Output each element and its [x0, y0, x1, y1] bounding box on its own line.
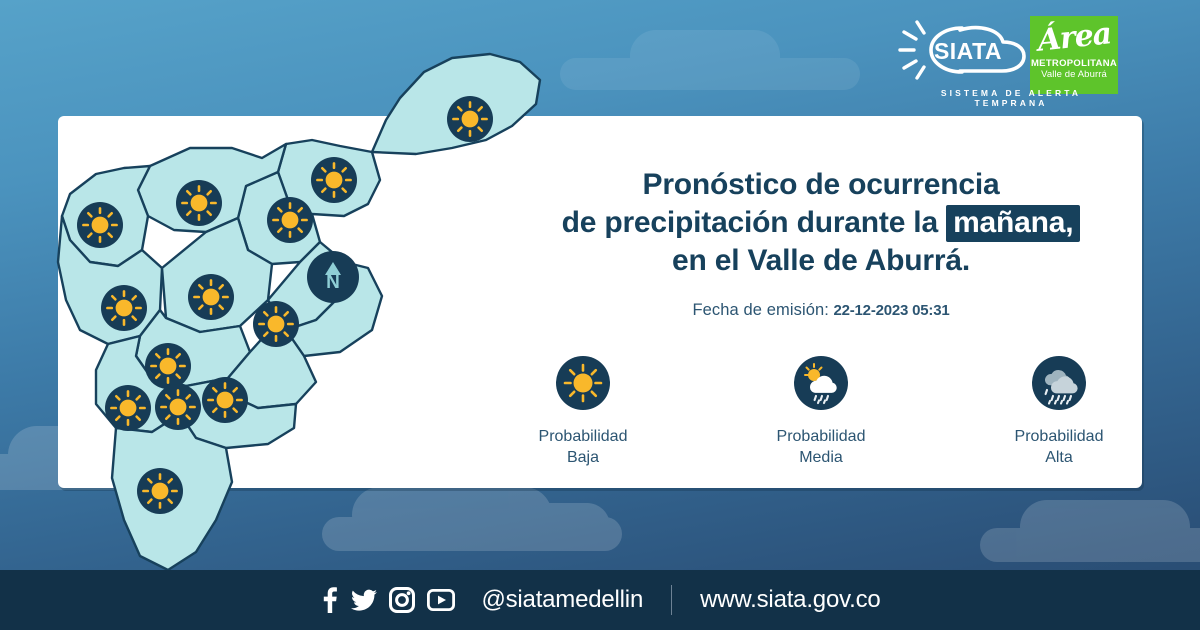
map-marker-girardota: [311, 157, 357, 203]
headline-line-2: de precipitación durante la mañana,: [500, 204, 1142, 242]
legend-label-media: Probabilidad Media: [746, 427, 896, 468]
probability-legend: Probabilidad Baja: [500, 356, 1142, 468]
headline-line-2-text: de precipitación durante la: [562, 206, 947, 239]
valle-de-aburra-map: N: [0, 0, 560, 630]
map-marker-copacabana: [267, 197, 313, 243]
map-marker-medellin-occidente: [101, 285, 147, 331]
sun-rain-cloud-icon: [794, 356, 848, 410]
legend-label-baja: Probabilidad Baja: [508, 427, 658, 468]
social-handle[interactable]: @siatamedellin: [481, 586, 643, 614]
area-line-1: METROPOLITANA: [1030, 58, 1118, 69]
area-line-2: Valle de Aburrá: [1030, 69, 1118, 80]
area-script-text: Área: [1028, 12, 1119, 58]
map-marker-sabaneta: [202, 377, 248, 423]
legend-label-alta: Probabilidad Alta: [984, 427, 1134, 468]
footer-bar: @siatamedellin www.siata.gov.co: [0, 570, 1200, 630]
website-url[interactable]: www.siata.gov.co: [700, 586, 880, 614]
instagram-icon[interactable]: [389, 587, 415, 613]
siata-wordmark: SIATA: [934, 38, 1002, 64]
legend-item-media: Probabilidad Media: [746, 356, 896, 468]
emission-date: Fecha de emisión: 22-12-2023 05:31: [500, 301, 1142, 320]
infographic-root: SIATA Área METROPOLITANA Valle de Aburrá…: [0, 0, 1200, 630]
map-marker-san-pedro: [176, 180, 222, 226]
social-icons: [319, 587, 455, 613]
sun-icon: [556, 356, 610, 410]
headline-line-1: Pronóstico de ocurrencia: [500, 166, 1142, 204]
map-marker-bello: [188, 274, 234, 320]
emission-date-value: 22-12-2023 05:31: [833, 302, 949, 319]
compass-label: N: [326, 272, 340, 293]
headline-highlight: mañana,: [946, 205, 1080, 242]
background-cloud-right: [980, 500, 1200, 562]
brand-tagline: SISTEMA DE ALERTA TEMPRANA: [904, 88, 1118, 108]
map-marker-caldas: [155, 384, 201, 430]
legend-item-alta: Probabilidad Alta: [984, 356, 1134, 468]
facebook-icon[interactable]: [319, 587, 339, 613]
compass-north-icon: N: [307, 251, 359, 303]
twitter-icon[interactable]: [351, 587, 377, 613]
area-metropolitana-logo: Área METROPOLITANA Valle de Aburrá: [1030, 16, 1118, 94]
rain-cloud-icon: [1032, 356, 1086, 410]
map-marker-medellin-centro: [253, 301, 299, 347]
legend-item-baja: Probabilidad Baja: [508, 356, 658, 468]
footer-divider: [671, 585, 672, 615]
map-marker-barbosa: [447, 96, 493, 142]
headline-line-3: en el Valle de Aburrá.: [500, 242, 1142, 280]
emission-date-label: Fecha de emisión:: [692, 301, 829, 319]
map-marker-la-estrella: [105, 385, 151, 431]
page-title: Pronóstico de ocurrencia de precipitació…: [500, 116, 1142, 279]
map-marker-itagui: [145, 343, 191, 389]
siata-logo-icon: SIATA: [898, 18, 1028, 82]
forecast-panel: Pronóstico de ocurrencia de precipitació…: [500, 116, 1142, 488]
map-marker-bello-norte: [77, 202, 123, 248]
brand-logo-block: SIATA Área METROPOLITANA Valle de Aburrá…: [898, 16, 1118, 108]
youtube-icon[interactable]: [427, 589, 455, 611]
background-cloud-top: [560, 30, 860, 90]
map-marker-envigado: [137, 468, 183, 514]
